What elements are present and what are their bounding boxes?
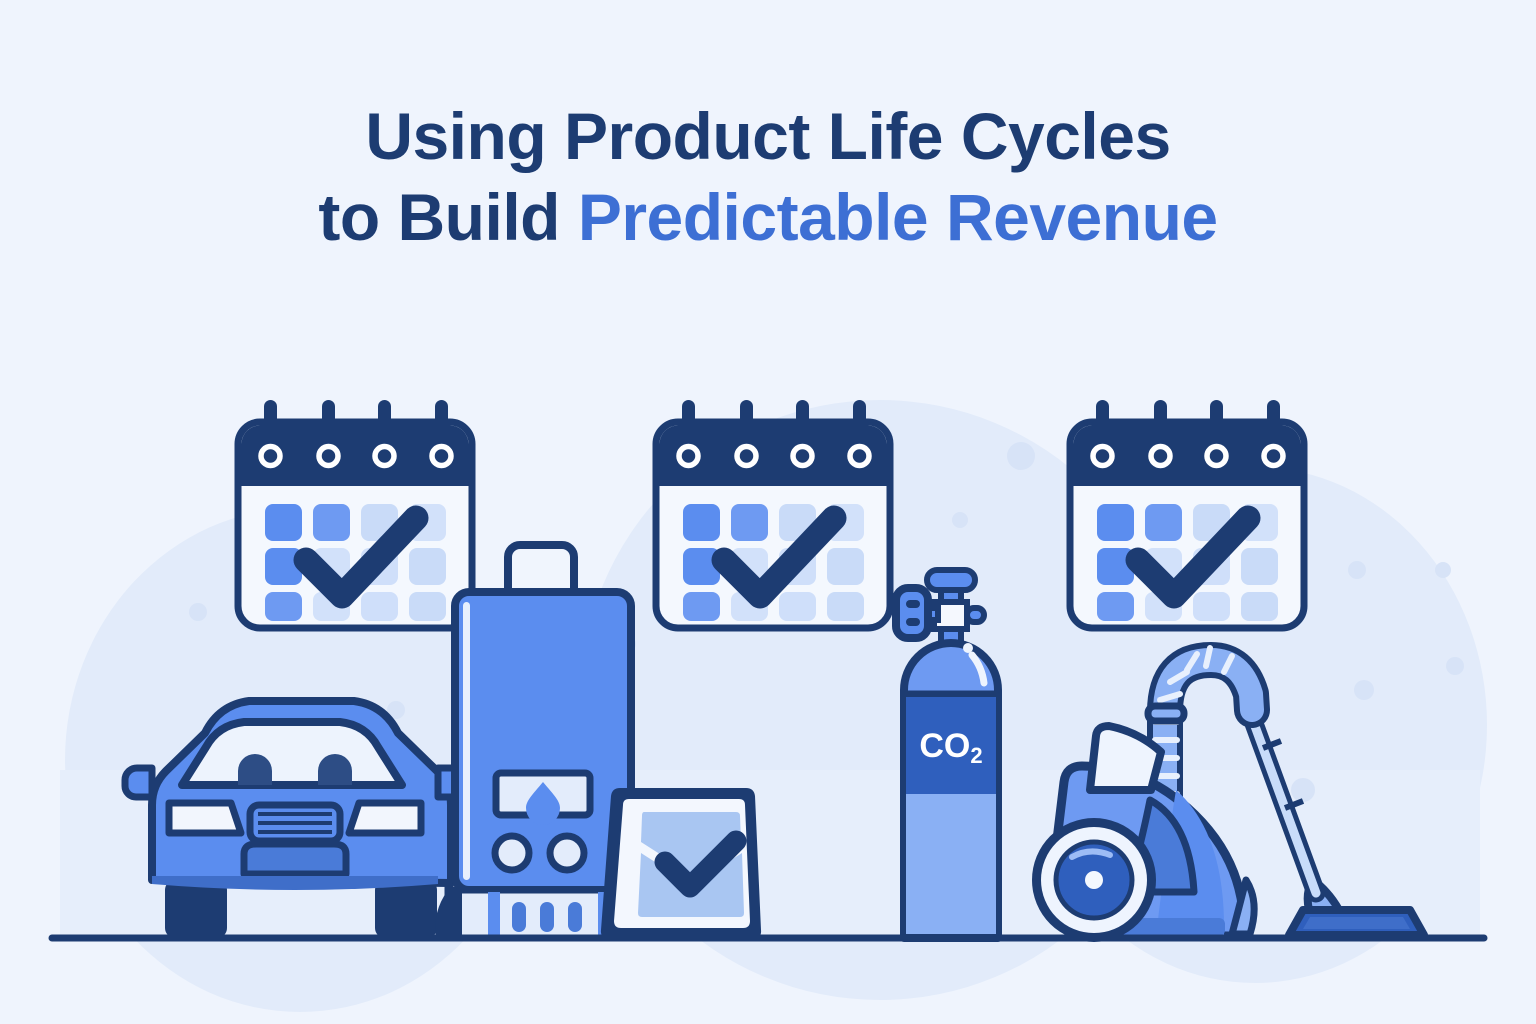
- calendar-right: [1070, 400, 1304, 628]
- valve-handle[interactable]: [896, 588, 928, 638]
- car-wheel-left: [165, 880, 227, 938]
- vacuum-nozzle-inner: [1303, 917, 1410, 929]
- cylinder-gloss-dot: [963, 643, 973, 653]
- boiler-flue-handle: [508, 545, 574, 595]
- boiler-foot: [435, 890, 462, 938]
- car-wheel-right: [375, 880, 437, 938]
- boiler-body: [455, 592, 631, 890]
- illustration-canvas: Using Product Life Cycles to Build Predi…: [0, 0, 1536, 1024]
- valve-top-knob[interactable]: [927, 570, 975, 590]
- boiler-base-edge-left: [488, 892, 500, 936]
- boiler-base-slats: [512, 902, 582, 932]
- car-headlight-right: [349, 803, 421, 833]
- co2-cylinder-illustration: CO2: [896, 570, 998, 938]
- calendar-center: [656, 400, 890, 628]
- car-illustration: [125, 701, 465, 938]
- illustration-artwork: CO2: [0, 0, 1536, 1024]
- car-mirror-left: [125, 768, 152, 797]
- calendar-left: [238, 400, 472, 628]
- car-bumper: [244, 844, 346, 874]
- service-sign: [601, 788, 761, 939]
- boiler-knob-right[interactable]: [550, 836, 584, 870]
- vacuum-hose-cuff-top: [1148, 706, 1184, 721]
- valve-handle-slot: [906, 618, 920, 626]
- boiler-highlight: [463, 602, 470, 880]
- boiler-knob-left[interactable]: [495, 836, 529, 870]
- car-headlight-left: [169, 803, 241, 833]
- car-windshield: [182, 722, 402, 785]
- valve-outlet-nub: [967, 608, 984, 622]
- cylinder-lower-section: [906, 794, 996, 934]
- vacuum-cleaner-illustration: [1032, 648, 1424, 942]
- vacuum-wand: [1248, 707, 1316, 893]
- vacuum-wheel-center: [1085, 871, 1103, 889]
- valve-handle-slot: [906, 600, 920, 608]
